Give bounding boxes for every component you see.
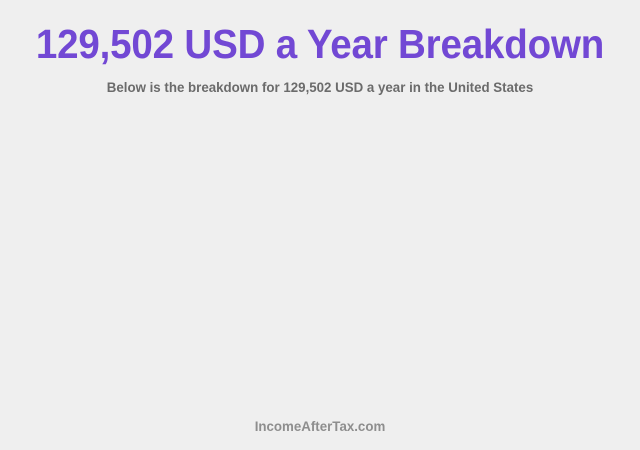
page-footer: IncomeAfterTax.com (0, 418, 640, 450)
page-title: 129,502 USD a Year Breakdown (19, 21, 621, 67)
breakdown-page: 129,502 USD a Year Breakdown Below is th… (0, 0, 640, 450)
page-header: 129,502 USD a Year Breakdown Below is th… (0, 0, 640, 96)
footer-brand-label: IncomeAfterTax.com (16, 418, 624, 434)
breakdown-content-area (0, 96, 640, 418)
page-subtitle: Below is the breakdown for 129,502 USD a… (16, 67, 624, 96)
